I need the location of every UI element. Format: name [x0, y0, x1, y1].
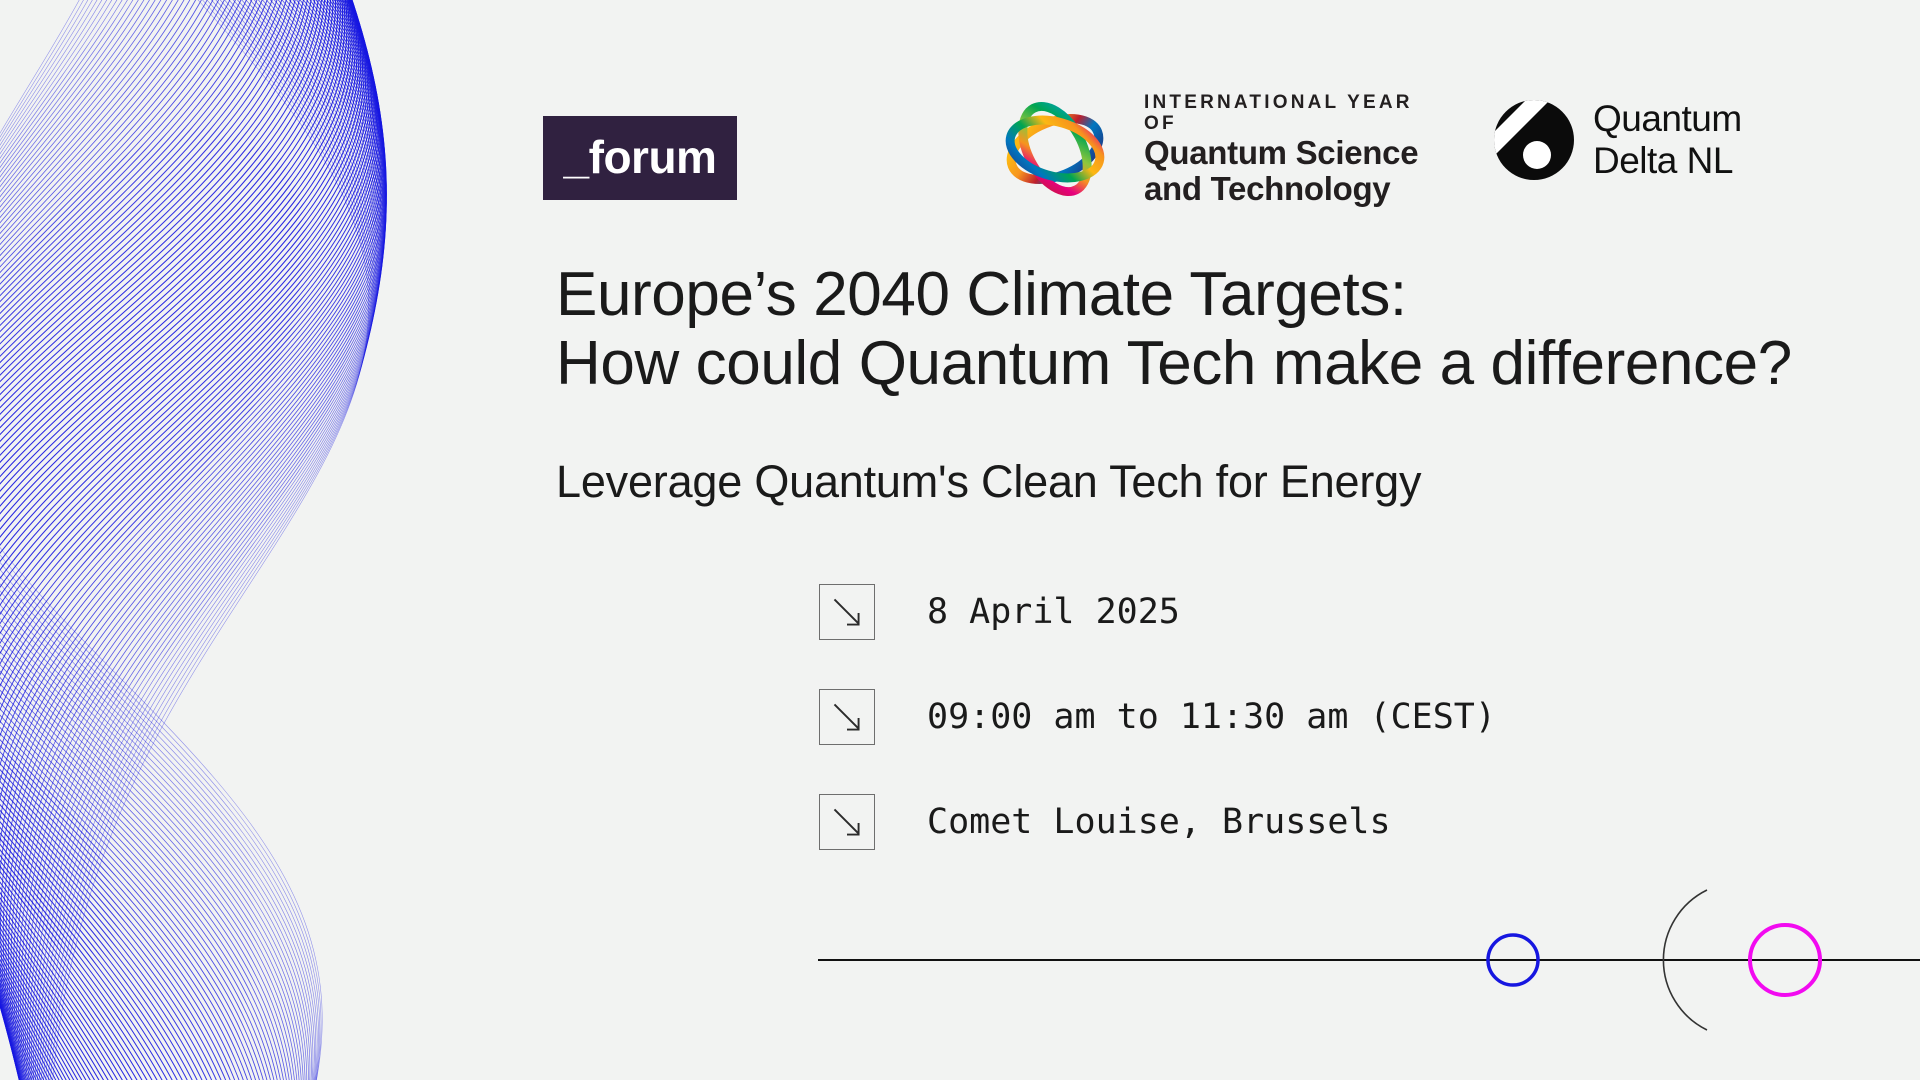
arrow-down-right-icon	[819, 794, 875, 850]
iyq-kicker: INTERNATIONAL YEAR OF	[1144, 92, 1420, 136]
qdnl-line-2: Delta NL	[1593, 140, 1742, 182]
title-line-2: How could Quantum Tech make a difference…	[556, 329, 1876, 398]
detail-text-venue: Comet Louise, Brussels	[927, 802, 1391, 842]
quantum-delta-circle-mark	[1493, 99, 1575, 181]
wave-artwork	[0, 0, 480, 1080]
logo-row: _forum	[543, 116, 1833, 202]
detail-row-date: 8 April 2025	[819, 582, 1496, 642]
subtitle: Leverage Quantum's Clean Tech for Energy	[556, 455, 1421, 509]
interlocking-ellipses-mark	[980, 74, 1130, 224]
quantum-delta-nl-logo: Quantum Delta NL	[1493, 98, 1742, 182]
detail-text-time: 09:00 am to 11:30 am (CEST)	[927, 697, 1496, 737]
detail-row-venue: Comet Louise, Brussels	[819, 792, 1496, 852]
event-details: 8 April 2025 09:00 am to 11:30 am (CEST)…	[819, 582, 1496, 897]
arrow-down-right-icon	[819, 689, 875, 745]
forum-wordmark: _forum	[564, 134, 717, 182]
detail-text-date: 8 April 2025	[927, 592, 1180, 632]
forum-logo: _forum	[543, 116, 737, 200]
qdnl-line-1: Quantum	[1593, 98, 1742, 140]
iyq-line-2: and Technology	[1144, 171, 1420, 207]
quantum-delta-nl-text: Quantum Delta NL	[1593, 98, 1742, 182]
detail-row-time: 09:00 am to 11:30 am (CEST)	[819, 687, 1496, 747]
iyq-logo: INTERNATIONAL YEAR OF Quantum Science an…	[980, 74, 1420, 224]
event-banner: _forum	[0, 0, 1920, 1080]
arrow-down-right-icon	[819, 584, 875, 640]
iyq-text: INTERNATIONAL YEAR OF Quantum Science an…	[1144, 92, 1420, 207]
page-title: Europe’s 2040 Climate Targets: How could…	[556, 260, 1876, 399]
iyq-line-1: Quantum Science	[1144, 135, 1420, 171]
title-line-1: Europe’s 2040 Climate Targets:	[556, 260, 1876, 329]
bottom-decoration	[810, 880, 1920, 1080]
